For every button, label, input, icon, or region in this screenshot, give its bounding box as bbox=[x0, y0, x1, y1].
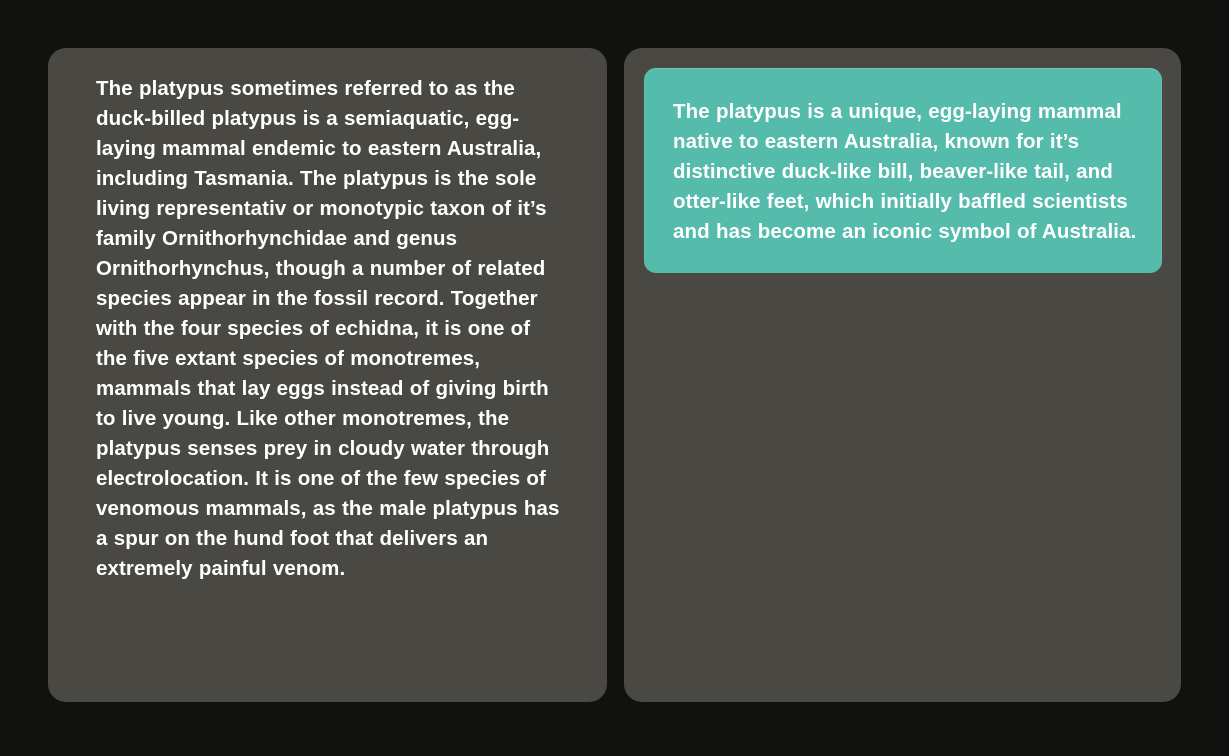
summary-panel: The platypus is a unique, egg-laying mam… bbox=[624, 48, 1181, 702]
summary-card: The platypus is a unique, egg-laying mam… bbox=[644, 68, 1162, 273]
source-paragraph: The platypus sometimes referred to as th… bbox=[96, 74, 566, 584]
source-text-panel: The platypus sometimes referred to as th… bbox=[48, 48, 607, 702]
app-root: The platypus sometimes referred to as th… bbox=[0, 0, 1229, 756]
summary-paragraph: The platypus is a unique, egg-laying mam… bbox=[673, 97, 1139, 247]
